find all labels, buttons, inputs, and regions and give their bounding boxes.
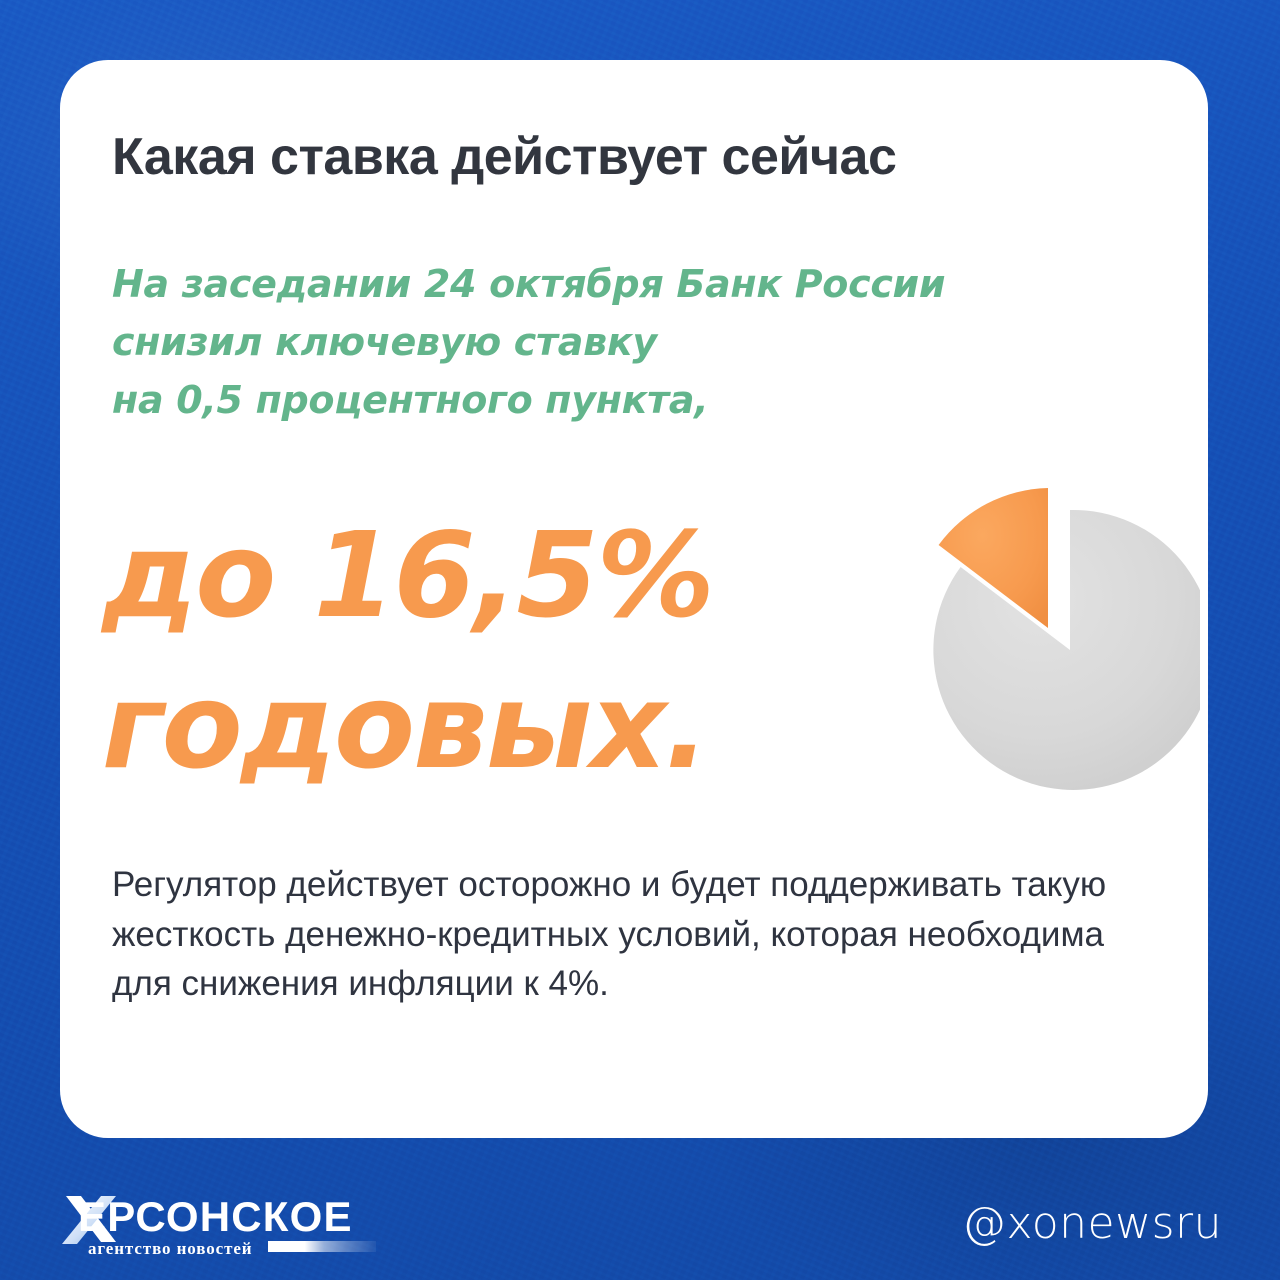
lede-line-2: снизил ключевую ставку (112, 314, 1012, 372)
body-paragraph: Регулятор действует осторожно и будет по… (112, 860, 1162, 1009)
headline-line-1: до 16,5% (102, 500, 942, 651)
brand-subtitle: агентство новостей (88, 1240, 252, 1257)
social-handle: @xonewsru (962, 1202, 1222, 1246)
headline-line-2: годовых. (102, 651, 942, 802)
card-inner: Какая ставка действует сейчас На заседан… (60, 60, 1208, 1138)
lede-line-1: На заседании 24 октября Банк России (112, 256, 1012, 314)
brand-accent-bar (268, 1241, 376, 1252)
footer-bar: ЕРСОНСКОЕ агентство новостей @xonewsru (0, 1138, 1280, 1280)
page-title: Какая ставка действует сейчас (112, 130, 1132, 185)
lede-paragraph: На заседании 24 октября Банк России сниз… (112, 256, 1012, 429)
lede-line-3: на 0,5 процентного пункта, (112, 372, 1012, 430)
pie-chart (860, 450, 1200, 790)
brand-logo: ЕРСОНСКОЕ агентство новостей (56, 1196, 356, 1270)
brand-name: ЕРСОНСКОЕ (78, 1196, 353, 1238)
headline-rate: до 16,5% годовых. (102, 500, 942, 802)
content-card: Какая ставка действует сейчас На заседан… (60, 60, 1208, 1138)
infographic-canvas: Какая ставка действует сейчас На заседан… (0, 0, 1280, 1280)
